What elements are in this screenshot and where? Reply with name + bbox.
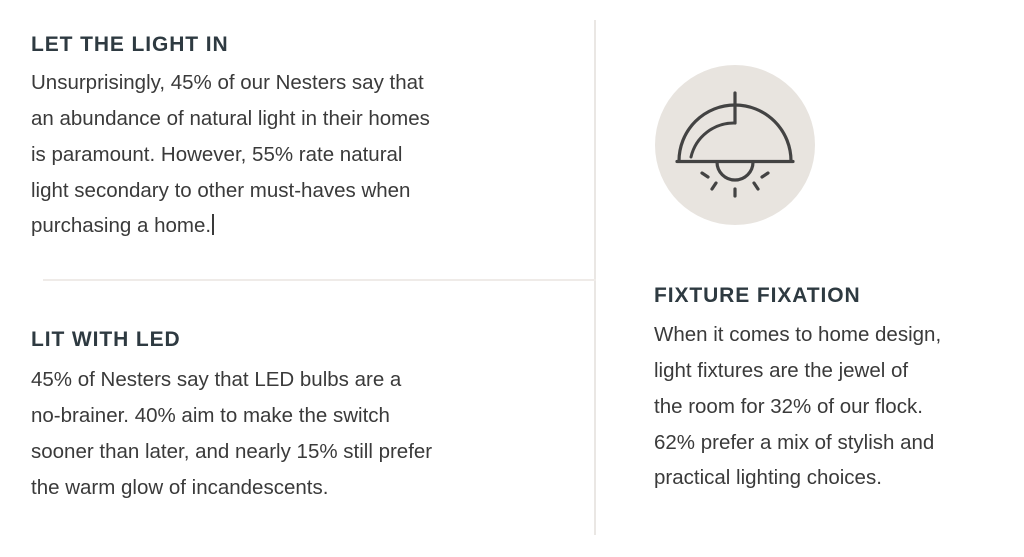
pendant-lamp-glyph [655, 65, 815, 225]
left-column: LET THE LIGHT IN Unsurprisingly, 45% of … [31, 0, 566, 557]
paragraph-lit-with-led[interactable]: 45% of Nesters say that LED bulbs are a … [31, 362, 551, 505]
section-divider [43, 279, 596, 281]
heading-lit-with-led: LIT WITH LED [31, 327, 551, 352]
pendant-lamp-icon [655, 65, 815, 225]
column-divider [594, 20, 596, 535]
text-caret [212, 214, 214, 235]
section-fixture-fixation: FIXTURE FIXATION When it comes to home d… [654, 283, 1004, 496]
paragraph-text: Unsurprisingly, 45% of our Nesters say t… [31, 71, 430, 237]
heading-let-the-light-in: LET THE LIGHT IN [31, 32, 551, 57]
infographic-page: LET THE LIGHT IN Unsurprisingly, 45% of … [0, 0, 1024, 557]
section-let-the-light-in: LET THE LIGHT IN Unsurprisingly, 45% of … [31, 32, 551, 244]
paragraph-fixture-fixation[interactable]: When it comes to home design, light fixt… [654, 317, 1004, 496]
right-column: FIXTURE FIXATION When it comes to home d… [654, 0, 1014, 557]
paragraph-let-the-light-in[interactable]: Unsurprisingly, 45% of our Nesters say t… [31, 65, 551, 244]
heading-fixture-fixation: FIXTURE FIXATION [654, 283, 1004, 308]
section-lit-with-led: LIT WITH LED 45% of Nesters say that LED… [31, 327, 551, 505]
